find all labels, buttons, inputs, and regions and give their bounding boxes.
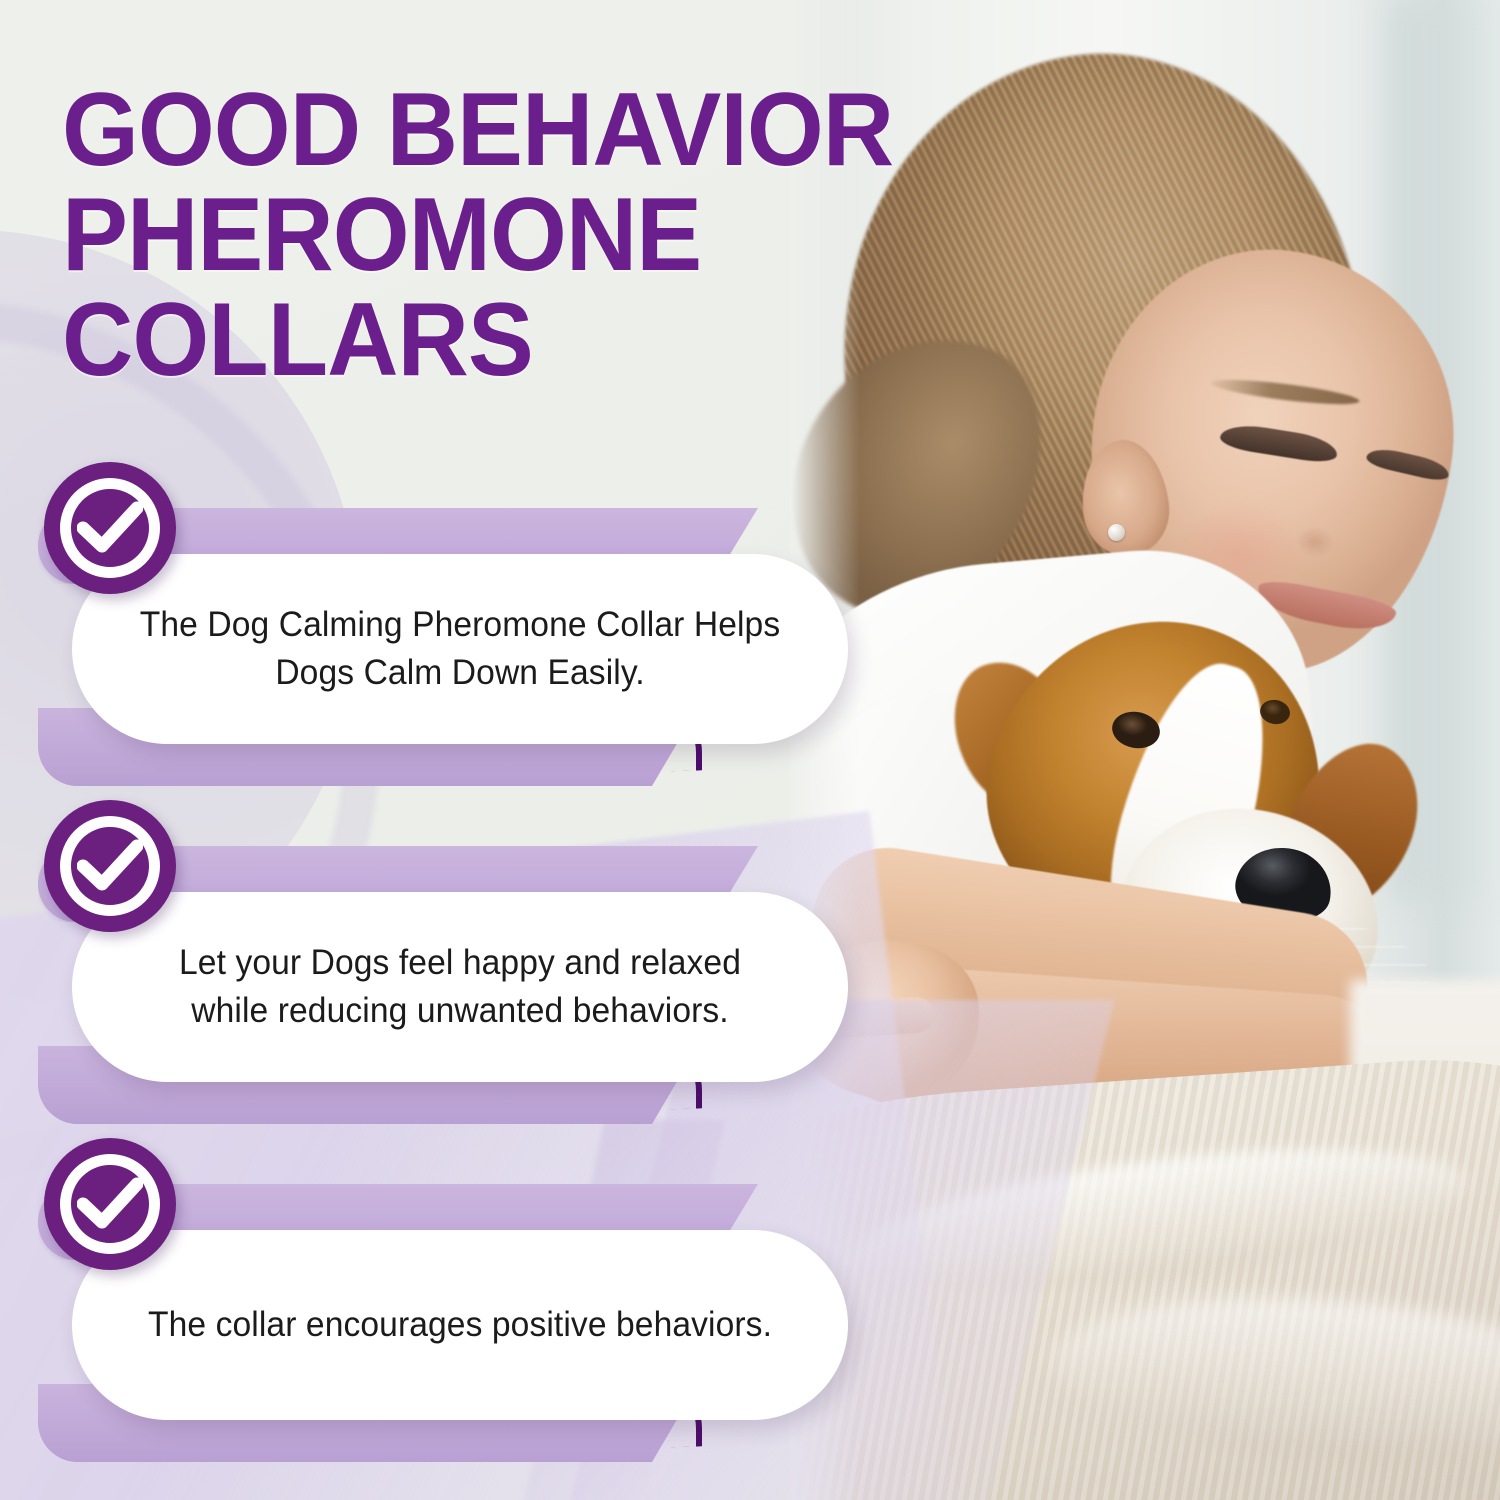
page-title: GOOD BEHAVIOR PHEROMONE COLLARS (62, 78, 1041, 393)
girl-earring (1108, 524, 1125, 541)
feature-card: The Dog Calming Pheromone Collar Helps D… (72, 554, 848, 744)
check-mark-icon (77, 500, 143, 556)
title-line-2: PHEROMONE (62, 183, 1041, 288)
feature-card: The collar encourages positive behaviors… (72, 1230, 848, 1420)
title-line-1: GOOD BEHAVIOR (62, 78, 1041, 183)
title-line-3: COLLARS (62, 288, 1041, 393)
check-mark-icon (77, 1176, 143, 1232)
check-circle-icon (44, 1138, 176, 1270)
feature-card: Let your Dogs feel happy and relaxed whi… (72, 892, 848, 1082)
feature-text: The collar encourages positive behaviors… (148, 1301, 772, 1349)
feature-text: Let your Dogs feel happy and relaxed whi… (137, 939, 782, 1035)
feature-text: The Dog Calming Pheromone Collar Helps D… (137, 601, 782, 697)
check-circle-icon (44, 462, 176, 594)
infographic-canvas: GOOD BEHAVIOR PHEROMONE COLLARS The Dog … (0, 0, 1500, 1500)
check-mark-icon (77, 838, 143, 894)
check-circle-icon (44, 800, 176, 932)
